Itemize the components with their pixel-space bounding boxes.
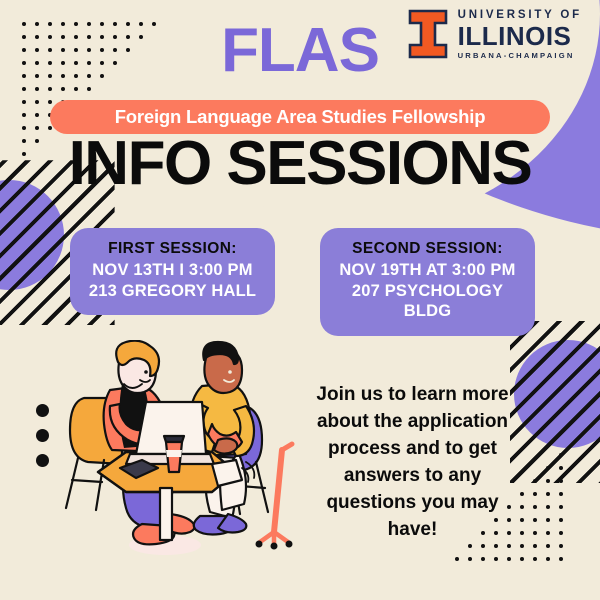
dot bbox=[546, 479, 550, 483]
dot bbox=[22, 100, 26, 104]
dot bbox=[559, 557, 563, 561]
dot bbox=[494, 557, 498, 561]
dot bbox=[520, 544, 524, 548]
dot bbox=[559, 531, 563, 535]
three-dots-decoration bbox=[36, 404, 49, 479]
dot bbox=[36, 429, 49, 442]
dot bbox=[507, 544, 511, 548]
dot bbox=[494, 544, 498, 548]
dot bbox=[468, 544, 472, 548]
dot bbox=[533, 531, 537, 535]
dot bbox=[507, 557, 511, 561]
dot bbox=[48, 87, 52, 91]
dot bbox=[546, 492, 550, 496]
headline: INFO SESSIONS bbox=[0, 130, 600, 198]
dot bbox=[533, 505, 537, 509]
dot bbox=[48, 100, 52, 104]
session-card-second: SECOND SESSION: NOV 19TH AT 3:00 PM 207 … bbox=[320, 228, 535, 336]
dot bbox=[74, 87, 78, 91]
dot bbox=[481, 544, 485, 548]
dot bbox=[559, 505, 563, 509]
dot bbox=[35, 100, 39, 104]
dot bbox=[533, 492, 537, 496]
page-title: FLAS bbox=[0, 20, 600, 82]
dot bbox=[546, 466, 550, 470]
dot bbox=[559, 453, 563, 457]
dot bbox=[61, 87, 65, 91]
dot-row bbox=[22, 87, 165, 100]
striped-circle-right bbox=[514, 340, 600, 448]
session-card-first: FIRST SESSION: NOV 13TH I 3:00 PM 213 GR… bbox=[70, 228, 275, 315]
dot bbox=[559, 466, 563, 470]
dot bbox=[559, 492, 563, 496]
dot bbox=[520, 492, 524, 496]
dot-row bbox=[455, 544, 572, 557]
poster-canvas: UNIVERSITY OF ILLINOIS URBANA-CHAMPAIGN … bbox=[0, 0, 600, 600]
session-header: FIRST SESSION: bbox=[80, 240, 265, 258]
dot bbox=[35, 113, 39, 117]
dot bbox=[520, 505, 524, 509]
body-copy: Join us to learn more about the applicat… bbox=[305, 382, 520, 544]
subtitle-text: Foreign Language Area Studies Fellowship bbox=[115, 106, 486, 128]
dot bbox=[559, 544, 563, 548]
dot bbox=[520, 531, 524, 535]
session-datetime: NOV 13TH I 3:00 PM bbox=[80, 260, 265, 281]
dot bbox=[533, 518, 537, 522]
dot bbox=[559, 518, 563, 522]
session-location: 207 PSYCHOLOGY BLDG bbox=[330, 281, 525, 322]
dot bbox=[36, 404, 49, 417]
dot bbox=[22, 87, 26, 91]
dot bbox=[546, 505, 550, 509]
dot bbox=[35, 87, 39, 91]
dot bbox=[546, 531, 550, 535]
session-datetime: NOV 19TH AT 3:00 PM bbox=[330, 260, 525, 281]
dot bbox=[546, 557, 550, 561]
dot-row bbox=[455, 557, 572, 570]
dot bbox=[455, 557, 459, 561]
dot bbox=[520, 557, 524, 561]
session-header: SECOND SESSION: bbox=[330, 240, 525, 258]
dot bbox=[559, 479, 563, 483]
dot bbox=[87, 87, 91, 91]
illustration-two-people-at-table bbox=[60, 340, 315, 565]
dot bbox=[546, 544, 550, 548]
dot bbox=[533, 544, 537, 548]
dot bbox=[468, 557, 472, 561]
dot bbox=[533, 479, 537, 483]
coat-rack bbox=[256, 444, 293, 550]
dot bbox=[546, 518, 550, 522]
dot bbox=[36, 454, 49, 467]
dot bbox=[22, 113, 26, 117]
dot bbox=[520, 518, 524, 522]
session-location: 213 GREGORY HALL bbox=[80, 281, 265, 302]
dot bbox=[533, 557, 537, 561]
dot bbox=[481, 557, 485, 561]
